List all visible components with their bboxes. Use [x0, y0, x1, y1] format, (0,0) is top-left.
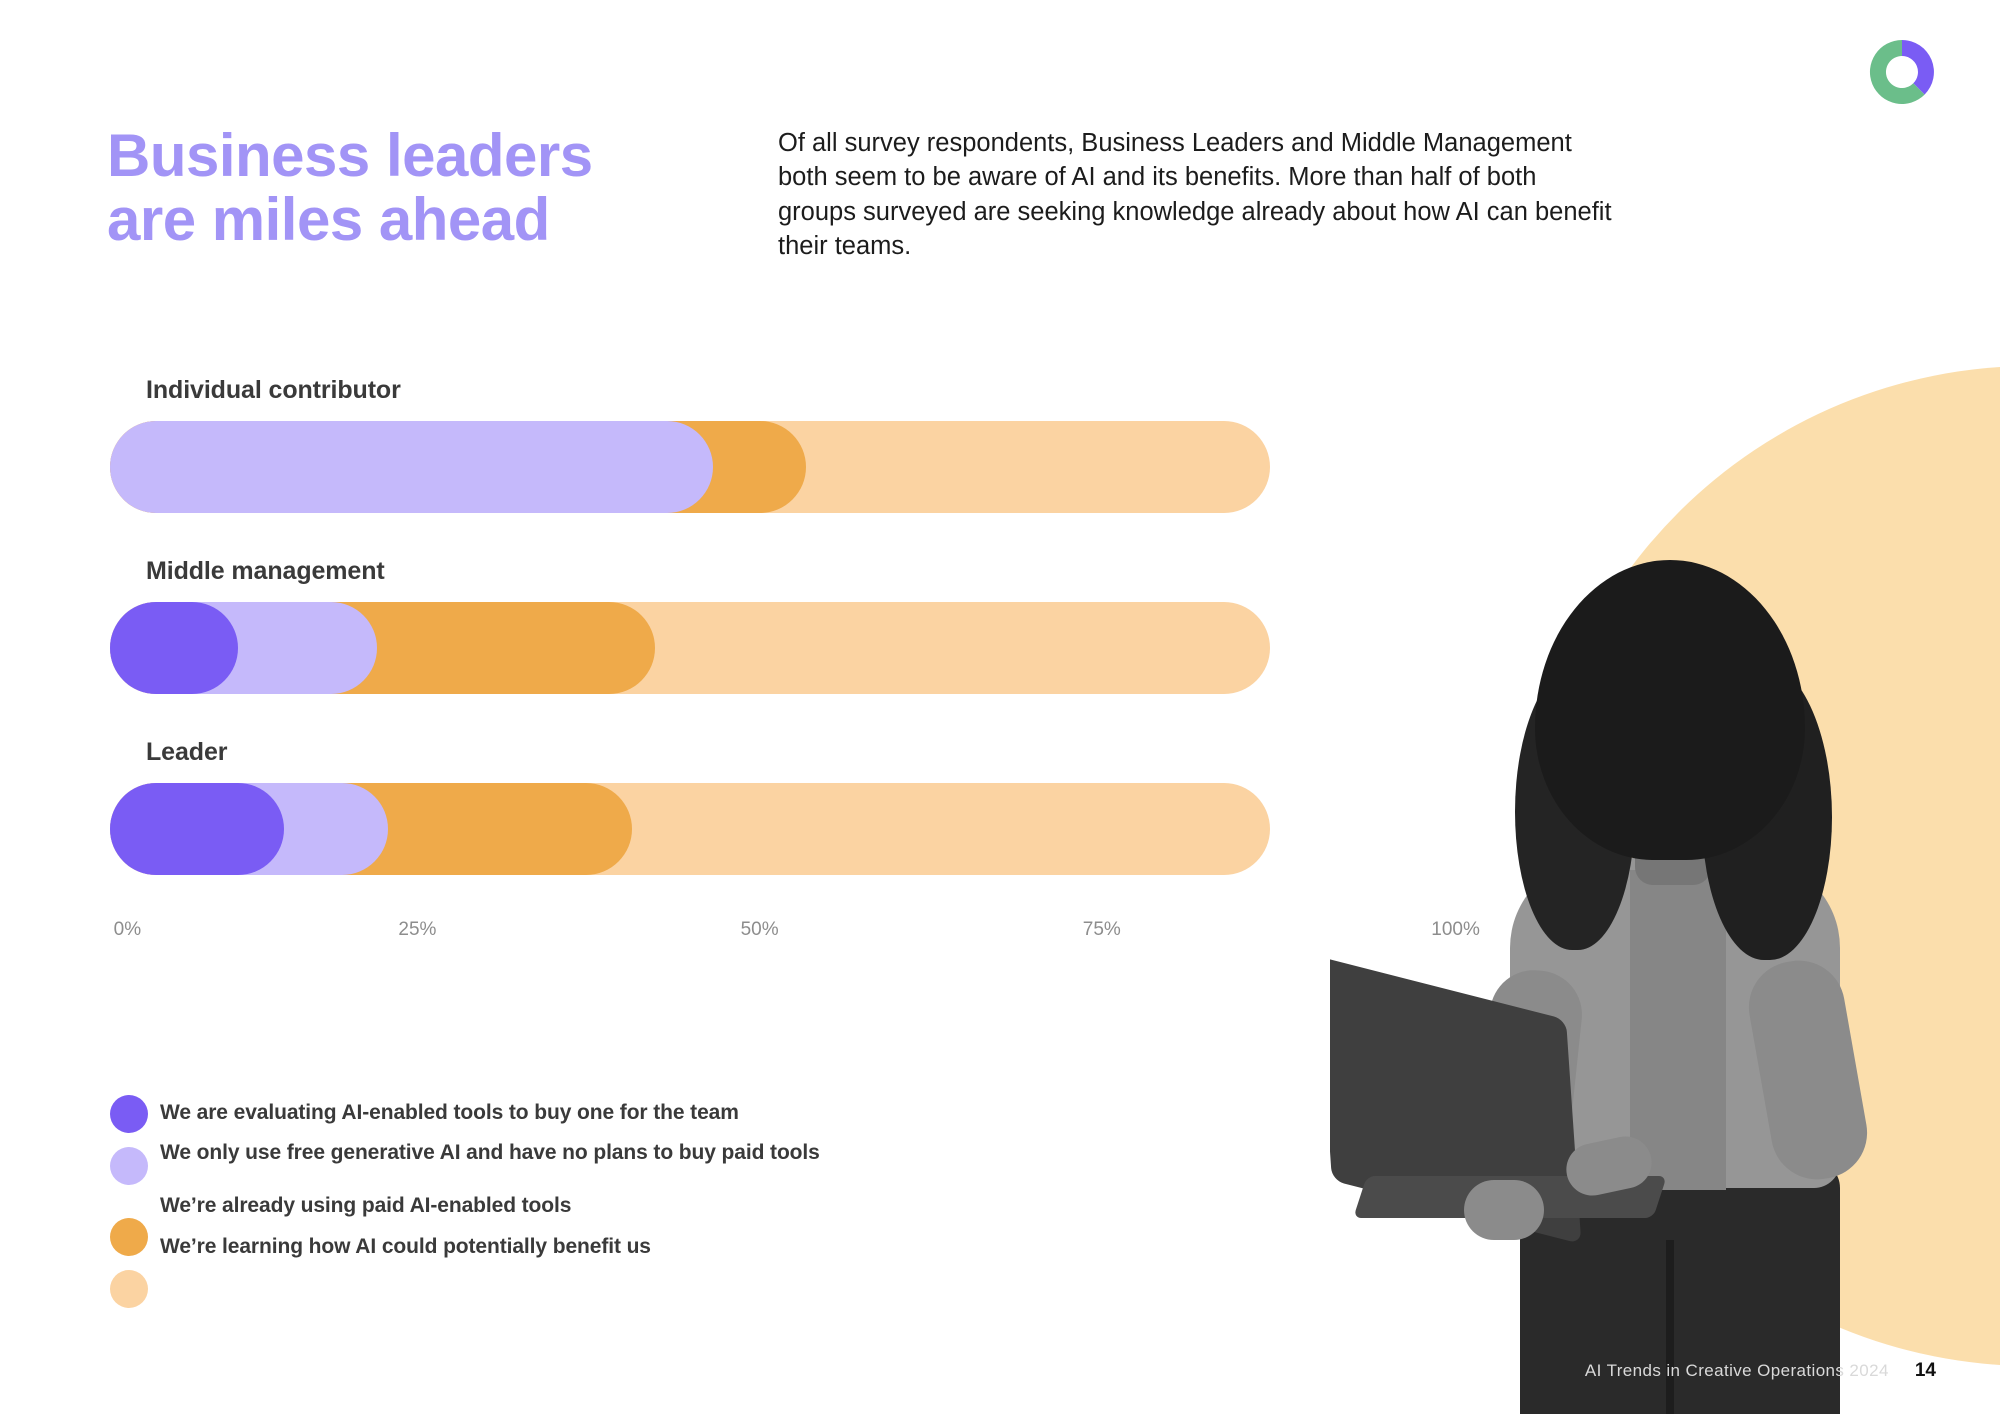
- bar-label-leader: Leader: [146, 738, 1270, 767]
- bar-label-individual-contributor: Individual contributor: [146, 376, 1270, 405]
- legend-label-paid-tools: We’re already using paid AI-enabled tool…: [160, 1194, 571, 1218]
- axis-tick-0: 0%: [114, 919, 141, 941]
- intro-paragraph: Of all survey respondents, Business Lead…: [778, 126, 1618, 264]
- bar-group-individual-contributor: Individual contributor: [110, 376, 1270, 513]
- bar-label-middle-management: Middle management: [146, 557, 1270, 586]
- bar-track-middle-management: [110, 602, 1270, 694]
- page-title-line-1: Business leaders: [107, 124, 747, 188]
- legend-label-free-only: We only use free generative AI and have …: [160, 1141, 820, 1165]
- page-title-line-2: are miles ahead: [107, 188, 747, 252]
- bar-segment-free-only: [110, 421, 713, 513]
- bar-segment-evaluating: [110, 602, 238, 694]
- photo-hair-top: [1535, 560, 1805, 860]
- legend-label-evaluating: We are evaluating AI-enabled tools to bu…: [160, 1101, 739, 1125]
- page-title: Business leaders are miles ahead: [107, 124, 747, 252]
- legend-label-learning: We’re learning how AI could potentially …: [160, 1235, 651, 1259]
- axis-tick-50: 50%: [741, 919, 779, 941]
- bar-group-middle-management: Middle management: [110, 557, 1270, 694]
- photo-left-hand: [1464, 1180, 1544, 1240]
- chart-x-axis: 0% 25% 50% 75% 100%: [110, 919, 1270, 955]
- bar-group-leader: Leader: [110, 738, 1270, 875]
- slide: Business leaders are miles ahead Of all …: [0, 0, 2000, 1414]
- legend-dot-learning: [110, 1270, 148, 1308]
- footer: AI Trends in Creative Operations 2024 14: [1585, 1360, 1936, 1382]
- axis-tick-100: 100%: [1431, 919, 1480, 941]
- bar-segment-evaluating: [110, 783, 284, 875]
- footer-deck-title: AI Trends in Creative Operations 2024: [1585, 1361, 1889, 1381]
- photo-inner: [1330, 540, 1970, 1414]
- photo-leg-split: [1666, 1240, 1674, 1414]
- stacked-bar-chart: Individual contributor Middle management…: [110, 376, 1270, 955]
- donut-logo-icon: [1866, 36, 1938, 108]
- axis-tick-25: 25%: [398, 919, 436, 941]
- legend-dot-paid-tools: [110, 1218, 148, 1256]
- legend-dot-free-only: [110, 1147, 148, 1185]
- axis-tick-75: 75%: [1083, 919, 1121, 941]
- woman-with-laptop-photo: [1330, 540, 1970, 1414]
- photo-torso-shade: [1630, 870, 1726, 1190]
- legend-dot-evaluating: [110, 1095, 148, 1133]
- bar-track-individual-contributor: [110, 421, 1270, 513]
- footer-page-number: 14: [1915, 1360, 1936, 1382]
- bar-track-leader: [110, 783, 1270, 875]
